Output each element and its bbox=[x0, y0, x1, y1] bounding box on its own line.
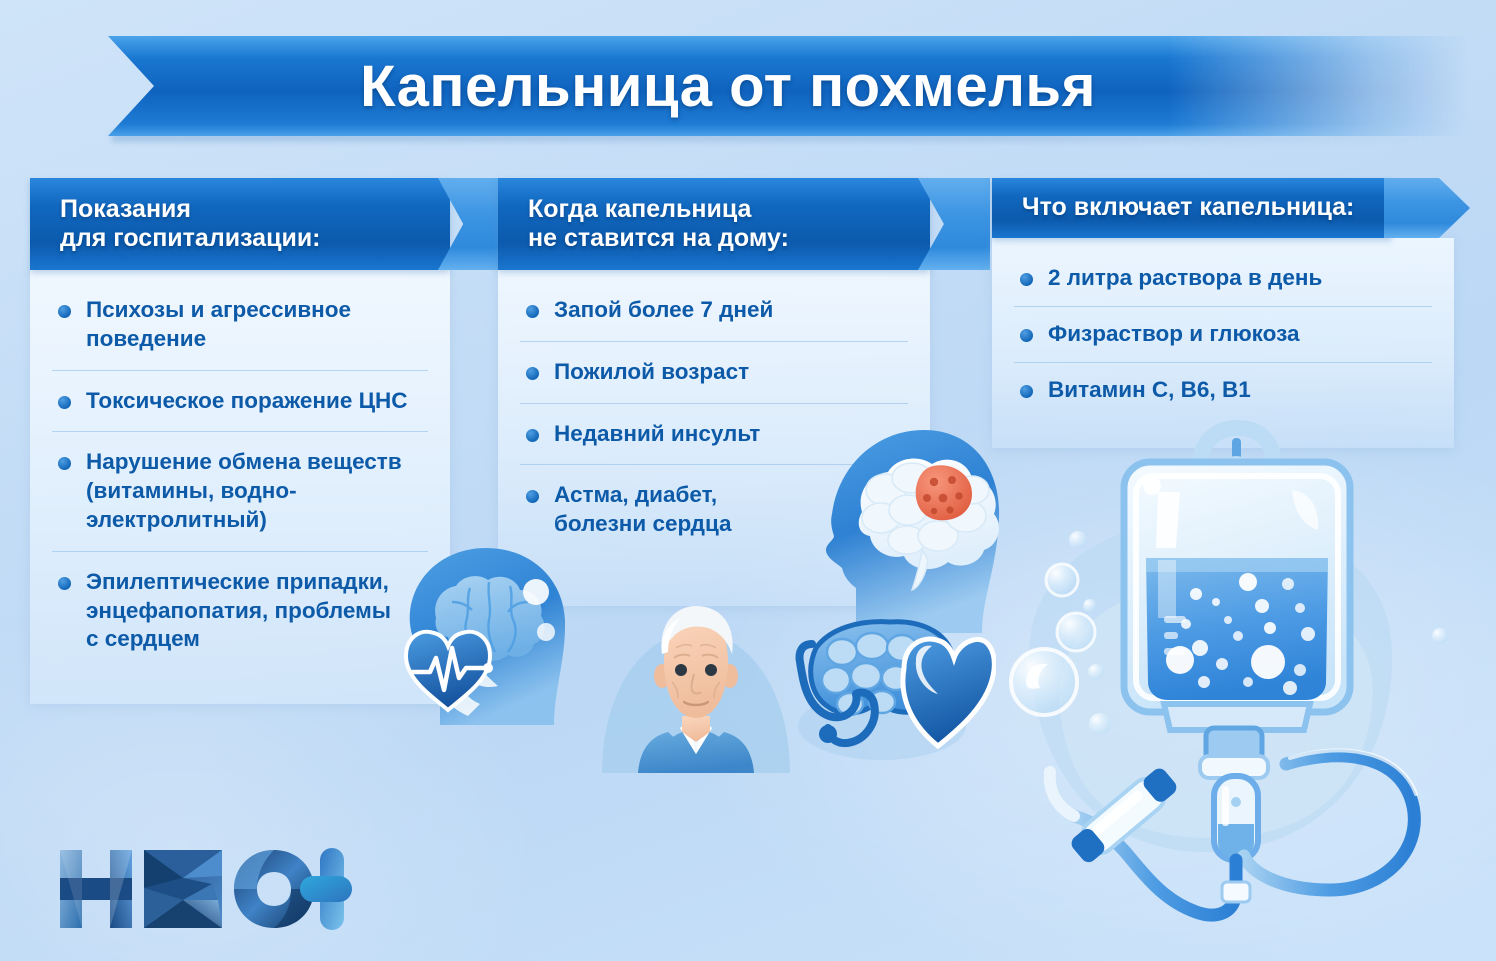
list-item: Психозы и агрессивное поведение bbox=[52, 296, 428, 371]
list-item: Витамин C, B6, B1 bbox=[1014, 376, 1432, 418]
indications-list: Психозы и агрессивное поведение Токсичес… bbox=[52, 296, 428, 670]
logo-plus-icon bbox=[300, 848, 352, 930]
panel-contents-title: Что включает капельница: bbox=[992, 193, 1354, 223]
panel-indications-header: Показания для госпитализации: bbox=[30, 178, 450, 270]
panel-indications: Показания для госпитализации: Психозы и … bbox=[30, 178, 478, 704]
title-banner: Капельница от похмелья bbox=[108, 36, 1468, 136]
lungs-with-stethoscope-and-heart-icon bbox=[786, 608, 996, 763]
page-title: Капельница от похмелья bbox=[360, 53, 1096, 120]
list-item: Физраствор и глюкоза bbox=[1014, 320, 1432, 363]
logo-letter-n bbox=[60, 850, 132, 928]
contents-list: 2 литра раствора в день Физраствор и глю… bbox=[1014, 264, 1432, 417]
iv-drip-bag-illustration bbox=[1000, 420, 1480, 960]
list-item: Пожилой возраст bbox=[520, 358, 908, 404]
list-item: Недавний инсульт bbox=[520, 420, 908, 466]
panel-contents: Что включает капельница: 2 литра раствор… bbox=[992, 178, 1472, 448]
brand-logo-neo-plus bbox=[52, 836, 352, 944]
elderly-man-avatar-icon bbox=[596, 598, 796, 773]
panel-indications-title: Показания для госпитализации: bbox=[30, 195, 321, 254]
list-item: Эпилептические припадки, энцефапопатия, … bbox=[52, 568, 428, 670]
panel-contents-header: Что включает капельница: bbox=[992, 178, 1392, 238]
list-item: 2 литра раствора в день bbox=[1014, 264, 1432, 307]
panel-contents-body: 2 литра раствора в день Физраствор и глю… bbox=[992, 238, 1454, 448]
panel-contraindications-header: Когда капельница не ставится на дому: bbox=[498, 178, 930, 270]
panel-indications-body: Психозы и агрессивное поведение Токсичес… bbox=[30, 270, 450, 704]
panel-contraindications: Когда капельница не ставится на дому: За… bbox=[498, 178, 968, 606]
list-item: Нарушение обмена веществ (витамины, водн… bbox=[52, 448, 428, 551]
list-item: Запой более 7 дней bbox=[520, 296, 908, 342]
panel-contents-header-tail bbox=[1384, 178, 1470, 238]
panel-contraindications-body: Запой более 7 дней Пожилой возраст Недав… bbox=[498, 270, 930, 606]
list-item: Токсическое поражение ЦНС bbox=[52, 387, 428, 433]
list-item: Астма, диабет, болезни сердца bbox=[520, 481, 908, 555]
logo-letter-e bbox=[144, 850, 222, 928]
contraindications-list: Запой более 7 дней Пожилой возраст Недав… bbox=[520, 296, 908, 555]
panel-contraindications-title: Когда капельница не ставится на дому: bbox=[498, 195, 789, 254]
